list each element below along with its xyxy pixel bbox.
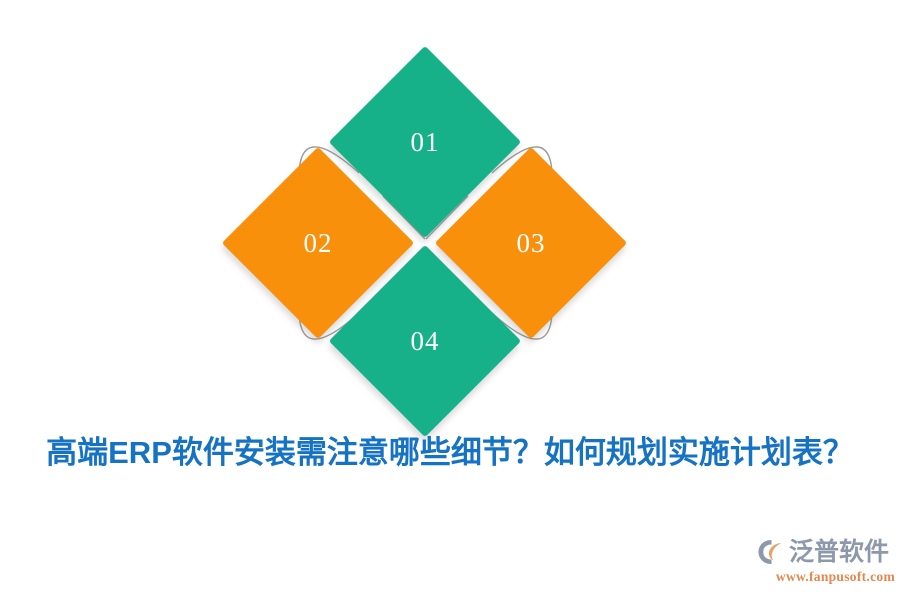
node-label-01: 01 (411, 129, 440, 156)
fanpu-logo-icon (757, 538, 787, 566)
logo-company-name: 泛普软件 (789, 538, 889, 566)
page-title: 高端ERP软件安装需注意哪些细节？如何规划实施计划表？ (0, 424, 900, 482)
brand-logo[interactable]: 泛普软件 www.fanpusoft.com (757, 536, 895, 588)
node-label-04: 04 (411, 328, 440, 355)
node-label-02: 02 (304, 230, 333, 257)
page-root: 01 02 03 04 高端ERP软件安装需注意哪些细节？如何规划实施计划表？ … (0, 0, 900, 600)
logo-row: 泛普软件 (757, 536, 895, 568)
process-diagram: 01 02 03 04 (0, 0, 900, 420)
logo-website-url: www.fanpusoft.com (757, 569, 895, 585)
node-label-03: 03 (517, 230, 546, 257)
